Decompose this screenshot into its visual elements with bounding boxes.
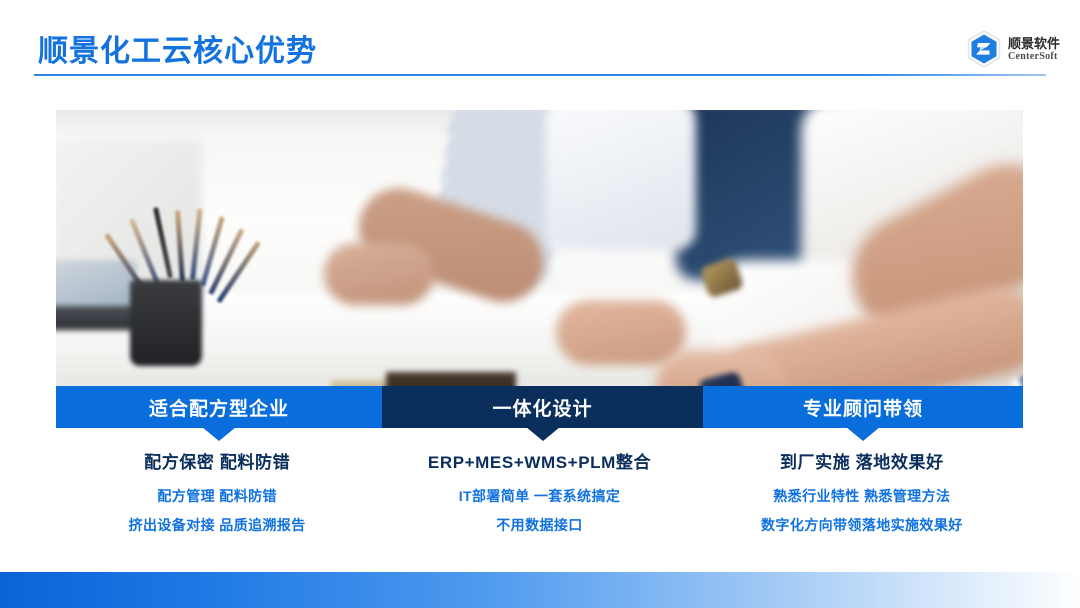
column-line-1-0: IT部署简单 一套系统搞定: [378, 486, 700, 506]
column-heading-1: ERP+MES+WMS+PLM整合: [378, 448, 700, 473]
column-heading-2: 到厂实施 落地效果好: [701, 448, 1023, 473]
page-title: 顺景化工云核心优势: [38, 26, 317, 70]
column-heading-0: 配方保密 配料防错: [56, 448, 378, 473]
brand-logo: 顺景软件 CenterSoft: [967, 30, 1060, 68]
column-line-0-0: 配方管理 配料防错: [56, 486, 378, 506]
banner-item-2[interactable]: 专业顾问带领: [703, 386, 1023, 428]
banner-label-0: 适合配方型企业: [149, 394, 289, 421]
column-line-1-1: 不用数据接口: [378, 515, 700, 535]
feature-column-1: ERP+MES+WMS+PLM整合 IT部署简单 一套系统搞定 不用数据接口: [378, 448, 700, 544]
office-scene-photo: [56, 110, 1023, 386]
feature-column-0: 配方保密 配料防错 配方管理 配料防错 挤出设备对接 品质追溯报告: [56, 448, 378, 544]
footer-gradient-bar: [0, 572, 1080, 608]
banner-item-1[interactable]: 一体化设计: [382, 386, 703, 428]
logo-company-en: CenterSoft: [1008, 52, 1060, 62]
slide-header: 顺景化工云核心优势 顺景软件 CenterSoft: [0, 0, 1080, 90]
banner-item-0[interactable]: 适合配方型企业: [56, 386, 382, 428]
feature-columns: 配方保密 配料防错 配方管理 配料防错 挤出设备对接 品质追溯报告 ERP+ME…: [56, 448, 1023, 544]
logo-company-cn: 顺景软件: [1008, 37, 1060, 50]
hand-gesturing: [556, 300, 686, 365]
centersoft-hexagon-logo-icon: [967, 30, 1001, 68]
column-line-2-0: 熟悉行业特性 熟悉管理方法: [701, 486, 1023, 506]
feature-banner-row: 适合配方型企业 一体化设计 专业顾问带领: [56, 386, 1023, 428]
feature-column-2: 到厂实施 落地效果好 熟悉行业特性 熟悉管理方法 数字化方向带领落地实施效果好: [701, 448, 1023, 544]
banner-label-2: 专业顾问带领: [803, 394, 923, 421]
book-stack: [386, 372, 516, 386]
pencil-cup: [130, 280, 202, 366]
slide: 顺景化工云核心优势 顺景软件 CenterSoft: [0, 0, 1080, 608]
chevron-down-icon: [202, 427, 236, 441]
logo-text-block: 顺景软件 CenterSoft: [1008, 37, 1060, 62]
title-underline-divider: [34, 74, 1046, 76]
banner-label-1: 一体化设计: [492, 394, 592, 421]
hand-on-book: [324, 243, 434, 305]
white-sleeve: [546, 110, 696, 250]
column-line-0-1: 挤出设备对接 品质追溯报告: [56, 515, 378, 535]
chevron-down-icon: [526, 427, 560, 441]
chevron-down-icon: [846, 427, 880, 441]
column-line-2-1: 数字化方向带领落地实施效果好: [701, 515, 1023, 535]
